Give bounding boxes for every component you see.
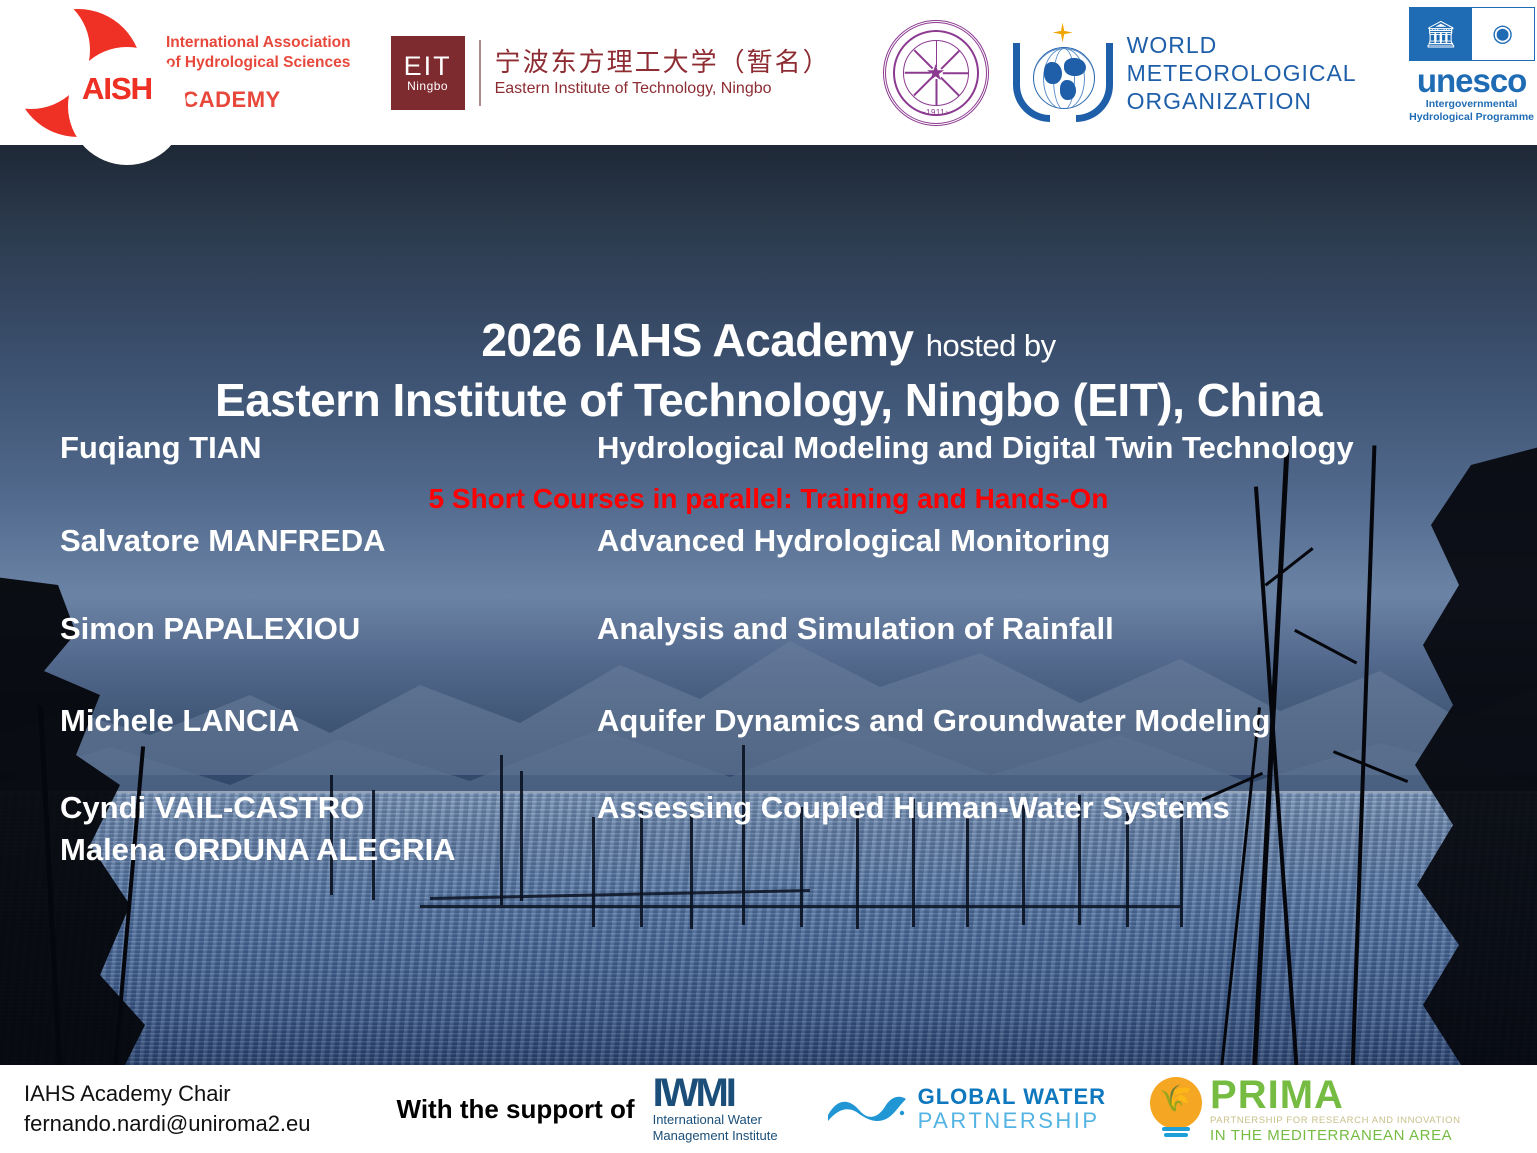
water-post [856, 811, 859, 929]
iahs-mark-bottom-text: AISH [82, 71, 152, 107]
sponsor-logo-bar: IAHS AISH International Association of H… [0, 0, 1537, 145]
chair-title: IAHS Academy Chair [24, 1079, 311, 1109]
water-post [966, 815, 969, 927]
unesco-ihp-logo: 🏛 ◉ unesco Intergovernmental Hydrologica… [1409, 0, 1535, 152]
wmo-line1: WORLD [1127, 31, 1357, 59]
iahs-logo-wordmark: International Association of Hydrologica… [166, 33, 351, 113]
prima-bulb-icon: 🌾 [1148, 1077, 1204, 1141]
prima-logo: 🌾 PRIMA PARTNERSHIP FOR RESEARCH AND INN… [1148, 1075, 1461, 1144]
course-topic: Hydrological Modeling and Digital Twin T… [597, 430, 1354, 466]
poster-subtitle: 5 Short Courses in parallel: Training an… [0, 483, 1537, 515]
prima-bulb-base [1162, 1127, 1190, 1131]
course-instructor: Michele LANCIA [60, 703, 299, 739]
water-crossbar [420, 905, 1180, 908]
wmo-globe-icon [1033, 47, 1095, 109]
title-hosted-by: hosted by [926, 328, 1056, 363]
iahs-mark-top-text: IAHS [16, 41, 86, 77]
poster-title-line2: Eastern Institute of Technology, Ningbo … [0, 373, 1537, 427]
tree-branch [1294, 629, 1357, 665]
iahs-name-line2: of Hydrological Sciences [166, 53, 351, 73]
wmo-line2: METEOROLOGICAL [1127, 59, 1357, 87]
wmo-emblem-icon [1011, 21, 1115, 125]
unesco-emblem-icon: 🏛 ◉ [1409, 7, 1535, 61]
support-label: With the support of [397, 1094, 635, 1125]
gwp-wordmark: GLOBAL WATER PARTNERSHIP [918, 1085, 1106, 1133]
course-topic: Advanced Hydrological Monitoring [597, 523, 1110, 559]
title-main: 2026 IAHS Academy [481, 314, 913, 366]
unesco-sub1: Intergovernmental [1409, 98, 1535, 111]
seal-spoke [942, 72, 968, 74]
course-topic: Analysis and Simulation of Rainfall [597, 611, 1114, 647]
eit-badge-sub: Ningbo [407, 79, 448, 93]
eit-name-chinese: 宁波东方理工大学（暂名） [495, 47, 831, 78]
unesco-temple-icon: 🏛 [1410, 8, 1472, 60]
prima-wordmark: PRIMA PARTNERSHIP FOR RESEARCH AND INNOV… [1210, 1075, 1461, 1144]
prima-wheat-icon: 🌾 [1160, 1085, 1192, 1111]
course-instructor: Fuqiang TIAN [60, 430, 261, 466]
water-post [1126, 813, 1129, 927]
unesco-ihp-water-icon: ◉ [1472, 8, 1534, 60]
wmo-logo: WORLD METEOROLOGICAL ORGANIZATION [1011, 0, 1357, 145]
wmo-star-icon [1053, 23, 1073, 43]
tree-branch [1265, 547, 1314, 586]
iahs-emblem-icon: IAHS AISH [6, 3, 156, 143]
chair-email[interactable]: fernando.nardi@uniroma2.eu [24, 1109, 311, 1139]
iwmi-logo: IWMI International Water Management Inst… [653, 1074, 778, 1144]
wmo-line3: ORGANIZATION [1127, 87, 1357, 115]
course-instructor: Simon PAPALEXIOU [60, 611, 360, 647]
global-water-partnership-logo: GLOBAL WATER PARTNERSHIP [826, 1085, 1106, 1133]
wmo-wordmark: WORLD METEOROLOGICAL ORGANIZATION [1127, 31, 1357, 115]
course-topic: Aquifer Dynamics and Groundwater Modelin… [597, 703, 1270, 739]
prima-sub1: PARTNERSHIP FOR RESEARCH AND INNOVATION [1210, 1115, 1461, 1127]
eit-divider [479, 40, 481, 106]
eit-badge-main: EIT [404, 53, 452, 79]
iwmi-wordmark: IWMI [653, 1074, 778, 1112]
prima-bulb-base2 [1164, 1133, 1188, 1137]
poster-title-line1: 2026 IAHS Academy hosted by [0, 313, 1537, 367]
water-post [520, 771, 523, 901]
prima-sub2: IN THE MEDITERRANEAN AREA [1210, 1127, 1461, 1144]
poster: IAHS AISH International Association of H… [0, 0, 1537, 1153]
iahs-academy-logo: IAHS AISH International Association of H… [0, 0, 351, 145]
eit-name-english: Eastern Institute of Technology, Ningbo [495, 78, 831, 99]
water-post [742, 745, 745, 925]
water-post [690, 813, 693, 929]
seal-year-text: ~1911~ [886, 108, 986, 117]
unesco-sub2: Hydrological Programme [1409, 111, 1535, 124]
course-instructor-secondary: Malena ORDUNA ALEGRIA [60, 832, 456, 868]
iwmi-sub2: Management Institute [653, 1128, 778, 1144]
chair-contact-block: IAHS Academy Chair fernando.nardi@unirom… [24, 1079, 311, 1139]
gwp-wave-icon [826, 1089, 910, 1129]
water-post [592, 817, 595, 927]
iahs-name-line1: International Association [166, 33, 351, 53]
eit-badge-icon: EIT Ningbo [391, 36, 465, 110]
course-instructor: Salvatore MANFREDA [60, 523, 386, 559]
prima-name: PRIMA [1210, 1075, 1461, 1115]
course-topic: Assessing Coupled Human-Water Systems [597, 790, 1230, 826]
unesco-wordmark: unesco [1409, 64, 1535, 98]
eit-logo: EIT Ningbo 宁波东方理工大学（暂名） Eastern Institut… [391, 0, 831, 145]
seal-star-icon: ★ [926, 62, 946, 84]
gwp-line1: GLOBAL WATER [918, 1085, 1106, 1109]
water-post [500, 755, 503, 905]
eit-wordmark: 宁波东方理工大学（暂名） Eastern Institute of Techno… [495, 47, 831, 99]
course-instructor: Cyndi VAIL-CASTRO [60, 790, 364, 826]
poster-footer: IAHS Academy Chair fernando.nardi@unirom… [0, 1065, 1537, 1153]
tsinghua-university-seal-icon: ★ ~1911~ [883, 20, 989, 126]
iahs-academy-word: ACADEMY [166, 87, 351, 113]
background-photo: 2026 IAHS Academy hosted by Eastern Inst… [0, 145, 1537, 1065]
gwp-line2: PARTNERSHIP [918, 1109, 1106, 1133]
iwmi-sub1: International Water [653, 1112, 778, 1128]
